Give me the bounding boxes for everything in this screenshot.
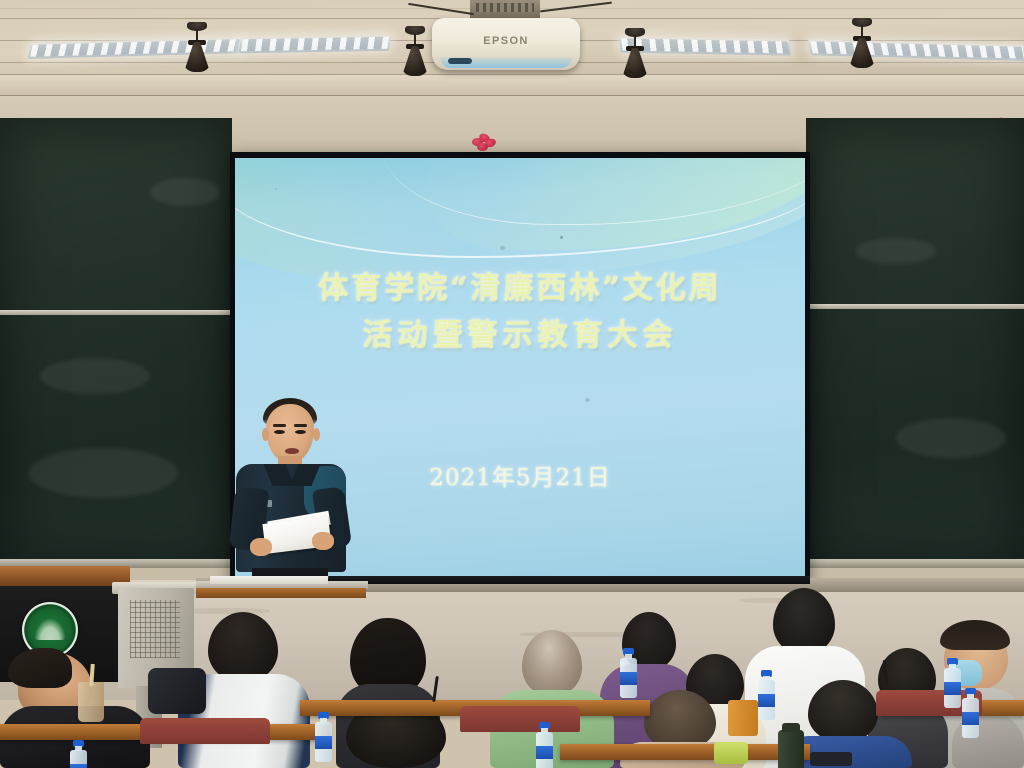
chair-back bbox=[460, 706, 580, 732]
teacher-desk bbox=[0, 566, 130, 586]
papers-on-desk bbox=[210, 576, 328, 584]
lecture-hall-photo: EPSON bbox=[0, 0, 1024, 768]
presenter-hand-left bbox=[250, 538, 272, 556]
slide-decor-wave bbox=[235, 158, 805, 258]
smartphone bbox=[810, 752, 852, 766]
projector: EPSON bbox=[432, 18, 580, 70]
slide-title-line-2: 活动暨警示教育大会 bbox=[235, 313, 805, 360]
front-table bbox=[196, 588, 366, 598]
ceiling-beam bbox=[0, 74, 1024, 96]
drinking-straw bbox=[89, 664, 95, 686]
head bbox=[644, 690, 716, 750]
hair bbox=[940, 620, 1010, 650]
chalkboard-right bbox=[806, 118, 1024, 568]
slide-decor-wave bbox=[235, 158, 805, 283]
bubble-tea-cup bbox=[78, 682, 104, 722]
slide-title: 体育学院“清廉西林”文化周 活动暨警示教育大会 bbox=[235, 266, 805, 359]
presenter-mouth-open bbox=[285, 448, 299, 454]
head bbox=[522, 630, 582, 696]
drink-cup-green bbox=[714, 742, 748, 764]
hair bbox=[8, 648, 72, 688]
thermos-flask bbox=[778, 730, 804, 768]
projector-lens bbox=[448, 58, 472, 64]
drink-cup-orange bbox=[728, 700, 758, 736]
head bbox=[773, 588, 835, 654]
fluorescent-light-panel bbox=[619, 37, 791, 56]
desk-row bbox=[560, 744, 810, 760]
slide-title-line-1: 体育学院“清廉西林”文化周 bbox=[235, 266, 805, 313]
fluorescent-light-panel bbox=[239, 35, 392, 54]
presenter-hand-right bbox=[312, 532, 334, 550]
projector-brand-label: EPSON bbox=[432, 35, 580, 47]
head bbox=[208, 612, 278, 682]
slide-decor-wave bbox=[383, 158, 805, 225]
presenter bbox=[228, 392, 354, 592]
chair-back bbox=[140, 718, 270, 744]
head bbox=[808, 680, 878, 742]
chalk-rail bbox=[806, 304, 1024, 309]
chalk-tray bbox=[806, 559, 1024, 568]
slide-decor-wave bbox=[429, 158, 805, 250]
chalk-rail bbox=[0, 310, 232, 315]
backpack bbox=[148, 668, 206, 714]
lectern-speaker-grille bbox=[130, 600, 180, 658]
red-flower-decoration bbox=[472, 134, 498, 152]
chalkboard-left bbox=[0, 118, 232, 568]
